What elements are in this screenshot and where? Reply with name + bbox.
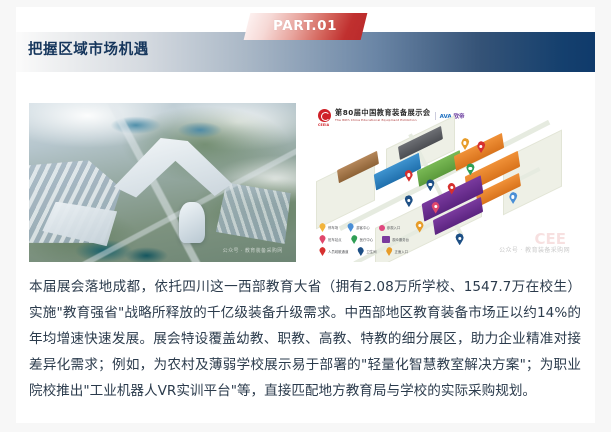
legend-label: 人员疏散通道 (328, 249, 348, 254)
legend-label: 正面入口 (395, 249, 409, 254)
legend-item: 游客中心 (347, 223, 370, 232)
legend-pin-icon (319, 223, 326, 232)
legend-label: 游客中心 (356, 225, 370, 230)
legend-pin-icon (357, 247, 364, 256)
map-legend: 停车场 游客中心 参观入口 班车站点 (319, 223, 409, 256)
page-title: 把握区域市场机遇 (28, 43, 149, 58)
legend-item: 医疗中心 (351, 235, 374, 244)
legend-label: 观众服务台 (392, 237, 409, 242)
venue-aerial-photo: 公众号 · 教育装备采购网 (29, 103, 296, 262)
body-paragraph: 本届展会落地成都，依托四川这一西部教育大省（拥有2.08万所学校、1547.7万… (29, 274, 581, 404)
photo-roads (29, 103, 296, 262)
legend-pin-icon (386, 247, 393, 256)
media-row: 公众号 · 教育装备采购网 CEEIA 第80届中国教育装备展示会 The 80… (29, 103, 581, 262)
legend-item: 正面入口 (386, 247, 409, 256)
map-pin-blue-2[interactable] (404, 195, 413, 207)
legend-item: 参观入口 (379, 225, 401, 231)
map-legend-row: 班车站点 医疗中心 观众服务台 (319, 235, 409, 244)
map-pin-blue-4[interactable] (455, 233, 464, 245)
map-watermark: 公众号 · 教育装备采购网 (499, 245, 570, 254)
legend-item: 卫生间 (357, 247, 376, 256)
photo-watermark: 公众号 · 教育装备采购网 (223, 247, 283, 254)
legend-label: 班车站点 (328, 237, 342, 242)
legend-square-icon (382, 236, 390, 243)
legend-label: 卫生间 (366, 249, 376, 254)
legend-item: 人员疏散通道 (319, 247, 348, 256)
legend-circle-icon (379, 225, 385, 231)
legend-pin-icon (351, 235, 358, 244)
map-legend-row: 人员疏散通道 卫生间 正面入口 (319, 247, 409, 256)
legend-label: 医疗中心 (360, 237, 374, 242)
legend-label: 停车场 (328, 225, 338, 230)
exhibition-floorplan-map: CEEIA 第80届中国教育装备展示会 The 80th China Educa… (311, 103, 578, 262)
legend-item: 班车站点 (319, 235, 342, 244)
legend-item: 停车场 (319, 223, 338, 232)
legend-pin-icon (319, 235, 326, 244)
map-legend-row: 停车场 游客中心 参观入口 (319, 223, 409, 232)
part-ribbon: PART.01 (244, 13, 368, 40)
legend-label: 参观入口 (387, 225, 401, 230)
map-pin-blue-1[interactable] (426, 179, 435, 191)
legend-item: 观众服务台 (382, 236, 409, 243)
part-ribbon-label: PART.01 (273, 20, 337, 34)
legend-pin-icon (319, 247, 326, 256)
photo-tower (179, 202, 206, 243)
legend-pin-icon (347, 223, 354, 232)
page-root: PART.01 把握区域市场机遇 公众号 · 教育装备采购网 CEEIA (0, 0, 611, 432)
